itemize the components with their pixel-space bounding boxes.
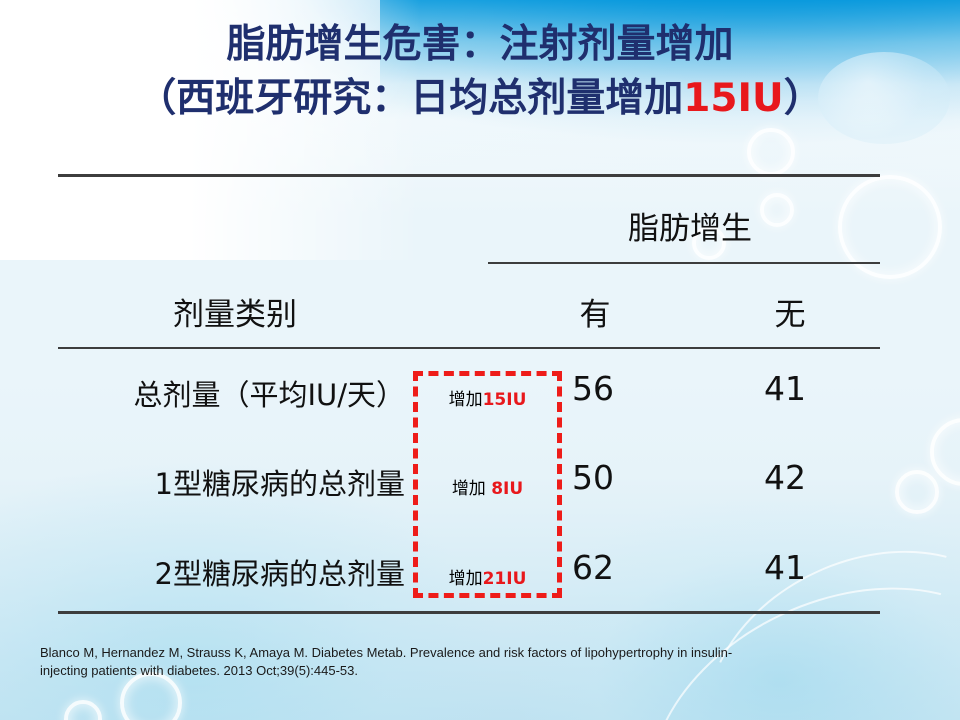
table-header-rule (58, 347, 880, 349)
dose-increase-note: 增加15IU (413, 385, 562, 410)
table-column-header-yes: 有 (520, 289, 670, 334)
citation-line-2: injecting patients with diabetes. 2013 O… (40, 662, 870, 680)
table-cell-value: 41 (730, 548, 840, 587)
dose-increase-note-value: 15IU (483, 390, 527, 410)
dose-increase-note-text: 增加 (449, 569, 483, 589)
table-row-label: 总剂量（平均IU/天） (60, 372, 405, 414)
table-row-label: 2型糖尿病的总剂量 (60, 551, 405, 593)
citation-line-1: Blanco M, Hernandez M, Strauss K, Amaya … (40, 644, 870, 662)
table-group-header-lipohypertrophy: 脂肪增生 (560, 203, 820, 248)
table-bottom-rule (58, 611, 880, 614)
dose-increase-note-value: 8IU (491, 479, 523, 499)
dose-increase-note-text: 增加 (449, 390, 483, 410)
table-top-rule (58, 174, 880, 177)
citation-block: Blanco M, Hernandez M, Strauss K, Amaya … (40, 644, 870, 680)
table-group-span-rule (488, 262, 880, 264)
dose-increase-note: 增加21IU (413, 564, 562, 589)
dose-increase-note: 增加 8IU (413, 474, 562, 499)
table-cell-value: 41 (730, 369, 840, 408)
data-table: 脂肪增生 剂量类别 有 无 总剂量（平均IU/天） 56 41 1型糖尿病的总剂… (0, 0, 960, 720)
dose-increase-note-text: 增加 (452, 479, 491, 499)
table-row-header-dose-category: 剂量类别 (105, 289, 365, 334)
table-row-label: 1型糖尿病的总剂量 (60, 461, 405, 503)
dose-increase-note-value: 21IU (483, 569, 527, 589)
table-cell-value: 42 (730, 458, 840, 497)
slide-canvas: 脂肪增生危害：注射剂量增加 （西班牙研究：日均总剂量增加15IU） 脂肪增生 剂… (0, 0, 960, 720)
table-column-header-no: 无 (715, 289, 865, 334)
